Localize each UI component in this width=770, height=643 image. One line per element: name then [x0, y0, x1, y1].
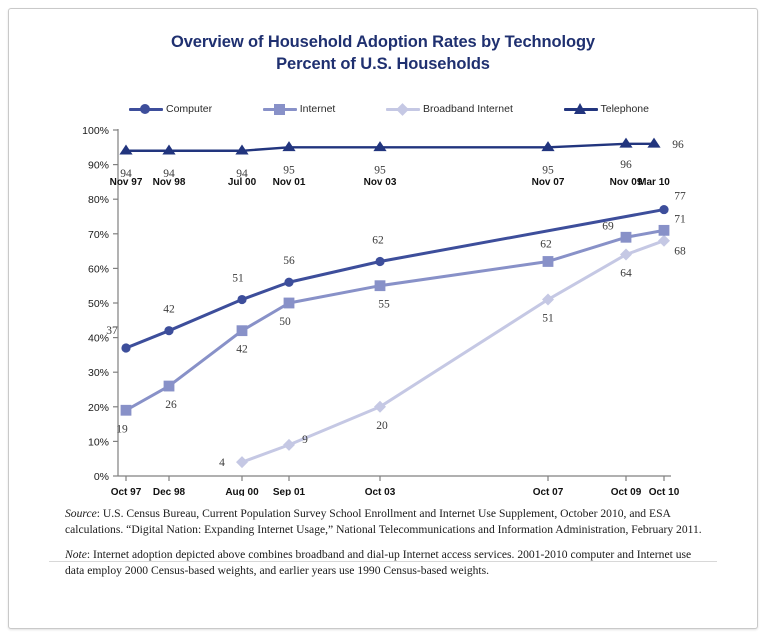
data-point-internet: [621, 232, 632, 243]
data-label-telephone: 95: [283, 164, 295, 176]
telephone-date-label: Nov 97: [110, 177, 143, 188]
data-label-computer: 56: [283, 255, 295, 267]
data-label-broadband-internet: 68: [674, 246, 686, 258]
y-axis-tick-label: 90%: [88, 160, 109, 172]
data-label-internet: 69: [602, 220, 614, 232]
y-axis-tick-label: 0%: [94, 471, 109, 483]
telephone-date-label: Nov 03: [364, 177, 397, 188]
x-axis-tick-label: Sep 01: [273, 487, 306, 496]
data-point-computer: [237, 295, 246, 304]
data-point-computer: [121, 343, 130, 352]
legend-label-telephone: Telephone: [601, 103, 649, 115]
data-point-internet: [375, 280, 386, 291]
source-note-text: : U.S. Census Bureau, Current Population…: [65, 507, 702, 536]
x-axis-tick-label: Aug 00: [225, 487, 259, 496]
x-axis-tick-label: Oct 07: [533, 487, 564, 496]
legend-marker-internet-icon: [263, 102, 297, 116]
data-label-internet: 62: [540, 238, 552, 250]
source-note: Source: U.S. Census Bureau, Current Popu…: [65, 506, 705, 537]
x-axis-tick-label: Oct 03: [365, 487, 396, 496]
y-axis-tick-label: 60%: [88, 263, 109, 275]
data-point-telephone: [162, 145, 175, 155]
legend-item-computer[interactable]: Computer: [129, 100, 212, 118]
data-point-internet: [237, 325, 248, 336]
legend-item-telephone[interactable]: Telephone: [564, 100, 649, 118]
data-point-computer: [375, 257, 384, 266]
y-axis-tick-label: 70%: [88, 229, 109, 241]
data-point-broadband-internet: [283, 439, 295, 451]
footnotes: Source: U.S. Census Bureau, Current Popu…: [65, 506, 705, 578]
data-label-internet: 42: [236, 344, 248, 356]
x-axis-tick-label: Dec 98: [153, 487, 186, 496]
legend-marker-telephone-icon: [564, 102, 598, 116]
telephone-date-label: Nov 98: [153, 177, 186, 188]
y-axis-tick-label: 50%: [88, 298, 109, 310]
data-label-telephone: 96: [672, 139, 684, 151]
legend-item-internet[interactable]: Internet: [263, 100, 336, 118]
data-label-internet: 55: [378, 299, 390, 311]
telephone-date-label: Nov 01: [273, 177, 306, 188]
chart-title: Overview of Household Adoption Rates by …: [9, 31, 757, 75]
data-label-broadband-internet: 64: [620, 268, 632, 280]
data-label-telephone: 96: [620, 159, 632, 171]
data-point-telephone: [119, 145, 132, 155]
data-point-computer: [659, 205, 668, 214]
chart-frame: Overview of Household Adoption Rates by …: [8, 8, 758, 629]
y-axis-tick-label: 10%: [88, 436, 109, 448]
legend-label-broadband-internet: Broadband Internet: [423, 103, 513, 115]
telephone-date-label: Jul 00: [228, 177, 257, 188]
telephone-date-label: Mar 10: [638, 177, 670, 188]
chart-title-line-1: Overview of Household Adoption Rates by …: [9, 31, 757, 53]
data-label-broadband-internet: 51: [542, 313, 554, 325]
chart-card: Overview of Household Adoption Rates by …: [9, 9, 757, 628]
data-label-broadband-internet: 20: [376, 420, 388, 432]
data-label-internet: 71: [674, 213, 686, 225]
general-note: Note: Internet adoption depicted above c…: [65, 547, 705, 578]
data-point-computer: [284, 278, 293, 287]
data-label-broadband-internet: 9: [302, 434, 308, 446]
general-note-text: : Internet adoption depicted above combi…: [65, 548, 691, 577]
data-point-broadband-internet: [620, 249, 632, 261]
general-note-lead: Note: [65, 548, 87, 561]
data-point-internet: [121, 405, 132, 416]
series-line-telephone: [126, 144, 654, 151]
data-label-computer: 37: [106, 325, 118, 337]
chart-title-line-2: Percent of U.S. Households: [9, 53, 757, 75]
data-label-internet: 19: [116, 423, 128, 435]
x-axis-tick-label: Oct 97: [111, 487, 142, 496]
source-note-lead: Source: [65, 507, 97, 520]
data-label-telephone: 95: [542, 164, 554, 176]
y-axis-tick-label: 100%: [82, 125, 109, 137]
data-label-telephone: 95: [374, 164, 386, 176]
data-point-internet: [164, 381, 175, 392]
x-axis-tick-label: Oct 09: [611, 487, 642, 496]
data-point-computer: [164, 326, 173, 335]
chart-svg: 0%10%20%30%40%50%60%70%80%90%100%Oct 97D…: [9, 121, 757, 496]
legend-label-internet: Internet: [300, 103, 336, 115]
legend-marker-computer-icon: [129, 102, 163, 116]
legend-label-computer: Computer: [166, 103, 212, 115]
data-label-computer: 51: [232, 273, 244, 285]
legend-marker-broadband-icon: [386, 102, 420, 116]
x-axis-tick-label: Oct 10: [649, 487, 680, 496]
data-label-internet: 26: [165, 399, 177, 411]
data-point-broadband-internet: [236, 456, 248, 468]
data-point-broadband-internet: [658, 235, 670, 247]
data-label-computer: 77: [674, 191, 686, 203]
data-label-computer: 62: [372, 234, 384, 246]
data-label-computer: 42: [163, 304, 175, 316]
telephone-date-label: Nov 07: [532, 177, 565, 188]
data-point-internet: [284, 298, 295, 309]
data-point-internet: [659, 225, 670, 236]
legend-item-broadband-internet[interactable]: Broadband Internet: [386, 100, 513, 118]
data-label-broadband-internet: 4: [219, 457, 225, 469]
y-axis-tick-label: 30%: [88, 367, 109, 379]
data-label-internet: 50: [279, 316, 291, 328]
plot-area: 0%10%20%30%40%50%60%70%80%90%100%Oct 97D…: [9, 121, 757, 496]
data-point-internet: [543, 256, 554, 267]
chart-legend: Computer Internet Broadband Internet: [129, 100, 649, 118]
y-axis-tick-label: 20%: [88, 402, 109, 414]
y-axis-tick-label: 80%: [88, 194, 109, 206]
